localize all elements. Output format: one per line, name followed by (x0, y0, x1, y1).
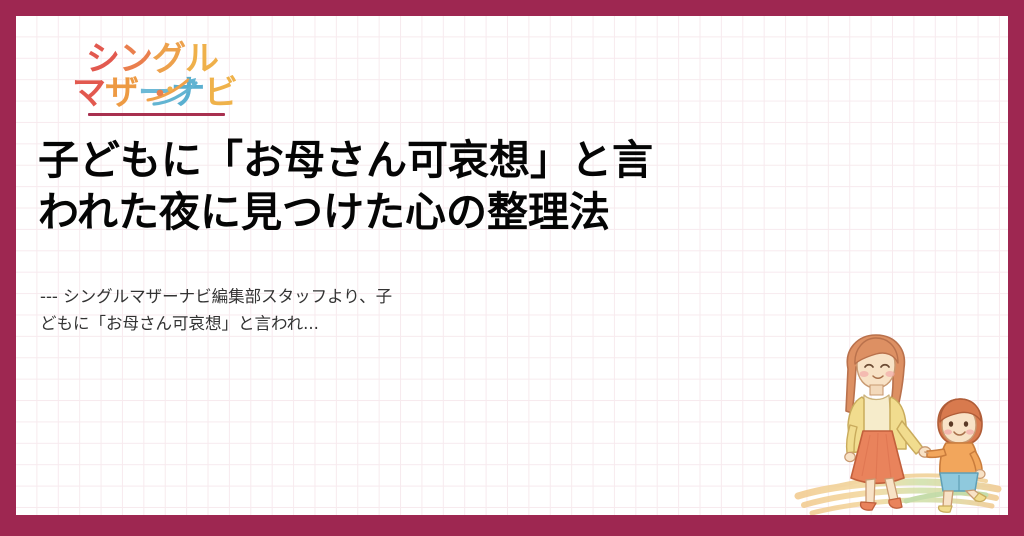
logo-line-2: マザーナビ (72, 76, 237, 110)
logo-char-na: ナ (171, 76, 204, 110)
logo-char-gu: グ (152, 42, 185, 76)
logo-char-bi: ビ (204, 76, 237, 110)
mother-and-child-icon (786, 321, 1008, 515)
logo-char-ru: ル (185, 42, 218, 76)
logo-char-shi: シ (86, 42, 119, 76)
logo-char-ma: マ (72, 76, 105, 110)
article-excerpt: --- シングルマザーナビ編集部スタッフより、子 どもに「お母さん可哀想」と言わ… (40, 284, 540, 337)
logo-char-bar: ー (138, 76, 171, 110)
logo-line-1: シングル (86, 42, 218, 76)
site-logo[interactable]: シングル マザーナビ (72, 28, 252, 120)
logo-char-n: ン (119, 42, 152, 76)
page-title: 子どもに「お母さん可哀想」と言 われた夜に見つけた心の整理法 (38, 134, 738, 238)
logo-underline (88, 113, 225, 116)
mother-and-child-illustration (786, 321, 1008, 515)
logo-char-za: ザ (105, 76, 138, 110)
card-sheet: シングル マザーナビ 子どもに「お母さん可哀想」と言 われた夜に見つけた心の整理… (16, 16, 1008, 515)
article-card: シングル マザーナビ 子どもに「お母さん可哀想」と言 われた夜に見つけた心の整理… (0, 0, 1024, 536)
